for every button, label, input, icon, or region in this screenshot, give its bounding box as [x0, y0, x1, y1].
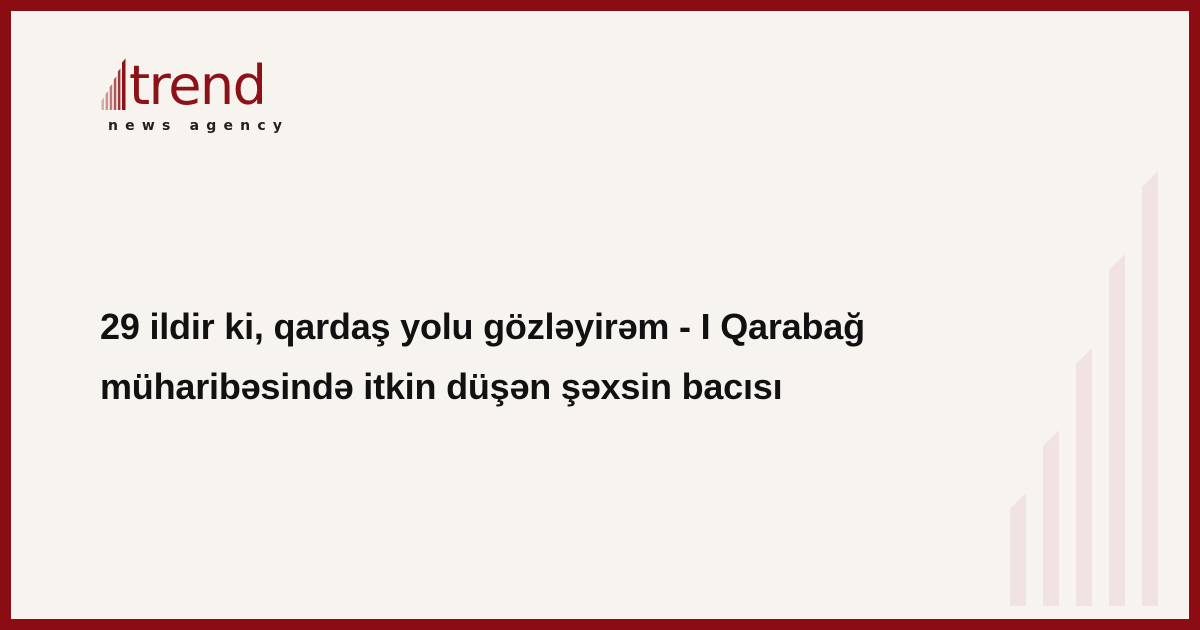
decor-bar-2	[1043, 430, 1059, 606]
decor-bar-3	[1076, 348, 1092, 606]
headline: 29 ildir ki, qardaş yolu gözləyirəm - I …	[100, 297, 980, 417]
decoration-bars-svg	[1004, 11, 1189, 619]
decor-bar-5	[1142, 171, 1158, 606]
logo-tagline: news agency	[108, 118, 350, 134]
decor-bar-1	[1010, 493, 1026, 606]
article-share-card: trend news agency 29 ildir ki, qardaş yo…	[0, 0, 1200, 630]
ascending-bars-decoration	[1004, 11, 1189, 619]
decor-bar-4	[1109, 254, 1125, 606]
logo-wordmark-text: trend	[129, 60, 265, 112]
trend-news-agency-logo[interactable]: trend news agency	[100, 52, 350, 147]
logo-wordmark-row: trend	[100, 52, 350, 110]
ascending-bars-icon	[100, 58, 130, 110]
